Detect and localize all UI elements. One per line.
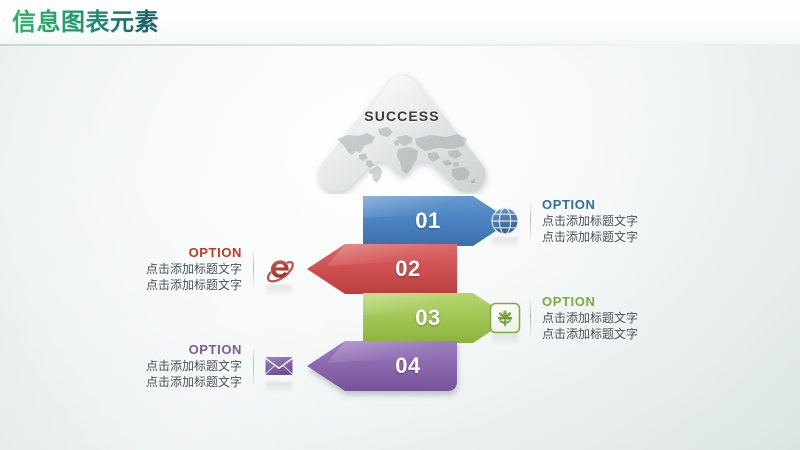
success-label: SUCCESS — [314, 108, 490, 124]
option-line-1: 点击添加标题文字 — [542, 311, 638, 326]
option-line-1: 点击添加标题文字 — [542, 214, 638, 229]
option-text-group: OPTION 点击添加标题文字 点击添加标题文字 — [542, 197, 638, 245]
page-title: 信息图表元素 — [12, 9, 159, 37]
option-text-group: OPTION 点击添加标题文字 点击添加标题文字 — [146, 342, 242, 390]
step-bar-04[interactable]: 04 — [345, 341, 475, 391]
option-text-group: OPTION 点击添加标题文字 点击添加标题文字 — [542, 294, 638, 342]
option-block-4[interactable]: OPTION 点击添加标题文字 点击添加标题文字 — [146, 341, 295, 391]
option-line-1: 点击添加标题文字 — [146, 359, 242, 374]
option-block-3[interactable]: OPTION 点击添加标题文字 点击添加标题文字 — [489, 293, 638, 343]
option-line-1: 点击添加标题文字 — [146, 262, 242, 277]
internet-explorer-icon — [263, 253, 295, 285]
header-divider — [0, 44, 800, 46]
option-text-group: OPTION 点击添加标题文字 点击添加标题文字 — [146, 245, 242, 293]
option-line-2: 点击添加标题文字 — [146, 278, 242, 293]
step-bar-group: 01 02 — [0, 0, 800, 450]
option-title: OPTION — [542, 197, 638, 214]
option-line-2: 点击添加标题文字 — [542, 327, 638, 342]
option-title: OPTION — [146, 342, 242, 359]
step-bar-03[interactable]: 03 — [345, 293, 475, 343]
option-divider — [253, 250, 254, 288]
option-line-2: 点击添加标题文字 — [146, 375, 242, 390]
step-bar-01[interactable]: 01 — [345, 196, 475, 246]
option-divider — [253, 347, 254, 385]
globe-icon — [489, 205, 521, 237]
option-divider — [530, 202, 531, 240]
option-block-2[interactable]: OPTION 点击添加标题文字 点击添加标题文字 — [146, 244, 295, 294]
plant-leaf-icon — [489, 302, 521, 334]
step-bar-02[interactable]: 02 — [345, 244, 475, 294]
envelope-icon — [263, 350, 295, 382]
option-title: OPTION — [146, 245, 242, 262]
slide-canvas: 信息图表元素 — [0, 0, 800, 450]
option-line-2: 点击添加标题文字 — [542, 230, 638, 245]
option-block-1[interactable]: OPTION 点击添加标题文字 点击添加标题文字 — [489, 196, 638, 246]
option-divider — [530, 299, 531, 337]
option-title: OPTION — [542, 294, 638, 311]
